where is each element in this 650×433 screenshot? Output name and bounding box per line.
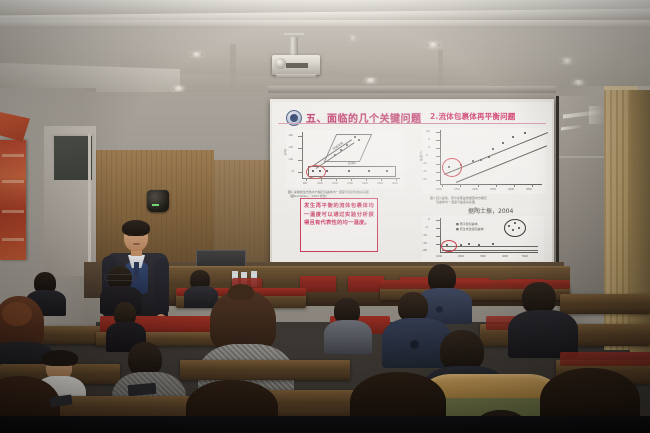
left-chart-y-axis [302,132,303,178]
ceiling-panel-right [420,54,620,83]
lecture-hall-photo: 五、面临的几个关键问题 2.流体包裹体再平衡问题 -20 -15 -10 -5 … [0,0,650,433]
audience [0,268,650,433]
right-chart-y-axis [440,130,441,184]
slide-title-divider [278,123,546,124]
downlight-4 [426,42,440,48]
slide-subtitle: 2.流体包裹体再平衡问题 [430,111,515,122]
downlight-8 [572,80,585,85]
slide-content: 五、面临的几个关键问题 2.流体包裹体再平衡问题 -20 -15 -10 -5 … [272,102,552,267]
ceiling-beam [0,20,650,28]
wall-banner [0,140,26,260]
ceiling-reveal-2 [438,50,443,90]
right-chart-citation: 据陶士振，2004 [468,206,513,215]
slide-header: 五、面临的几个关键问题 2.流体包裹体再平衡问题 [278,106,546,122]
right-chart-x-axis [440,184,542,185]
projection-screen: 五、面临的几个关键问题 2.流体包裹体再平衡问题 -20 -15 -10 -5 … [270,99,554,270]
downlight-5 [364,78,377,83]
bottom-chart-black-ellipse [504,219,526,237]
projector-base [276,74,316,78]
presenter-eye-right [140,234,144,236]
right-chart-highlight-ellipse [442,158,462,177]
left-chart: -20 -15 -10 -5 δ¹⁸O 80 100 120 140 160 1… [286,130,404,188]
slide-callout-text: 发生再平衡的流体包裹体均一温度可以通过实验分析获得且有代表性的均一温度。 [301,199,377,228]
downlight-2 [172,86,185,91]
downlight-7 [560,58,574,64]
downlight-1 [190,52,203,57]
screen-housing [268,86,556,93]
speaker-led-indicator [152,204,159,206]
bench-row1-far-right [560,294,650,314]
projector-vent [286,63,308,68]
ceiling-reveal-1 [230,44,236,90]
slide-callout-box: 发生再平衡的流体包裹体均一温度可以通过实验分析获得且有代表性的均一温度。 [300,198,378,252]
bench-row3-mid [180,360,350,380]
projector-lens-icon [275,58,286,69]
wall-speaker-icon [147,190,169,212]
left-chart-highlight-ellipse [306,165,326,179]
glasses-icon [104,274,136,281]
bottom-chart: 0 -5 -10 -15 -20 100 200 300 400 500 ■ 再… [422,216,544,260]
projector-ceiling-plate [284,33,304,37]
audience-foreground-shadow [0,416,650,433]
presenter-hair [122,220,150,236]
door-edge [88,134,91,274]
right-chart: 10 5 0 -5 -10 -15 -20 盐度/% 100 150 200 2… [422,128,546,194]
downlight-9 [348,36,358,40]
bottom-chart-red-ellipse [441,240,457,252]
presenter-eye-left [128,234,132,236]
projector-mount-rod [289,36,298,56]
presenter-mouth [133,243,140,245]
